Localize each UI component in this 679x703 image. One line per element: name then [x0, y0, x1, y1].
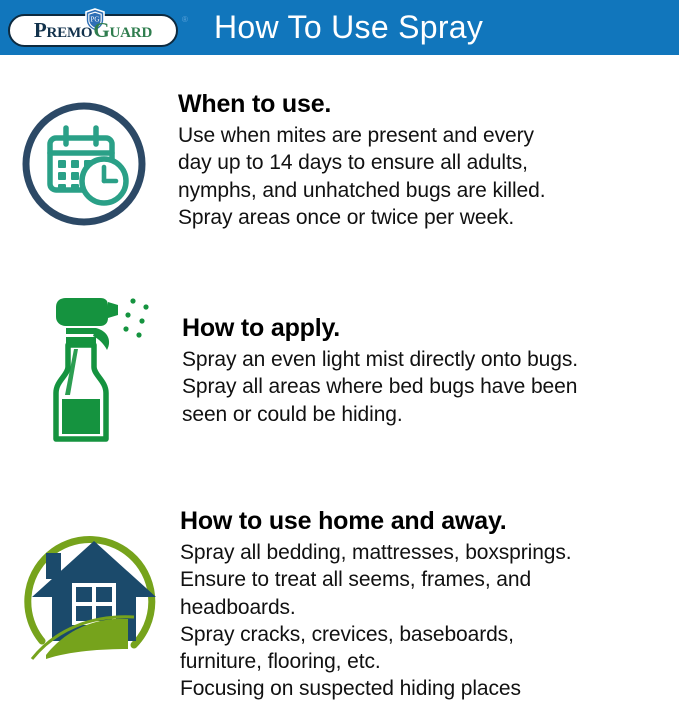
brand-logo: PG Premo Guard ®	[8, 8, 180, 48]
content-area: When to use. Use when mites are present …	[0, 55, 679, 665]
calendar-clock-icon	[18, 98, 150, 230]
page-header: PG Premo Guard ® How To Use Spray	[0, 0, 679, 55]
spray-bottle-icon	[38, 295, 158, 445]
section-home-line: Ensure to treat all seems, frames, and	[180, 566, 572, 593]
logo-wordmark: Premo Guard	[8, 14, 178, 47]
section-apply-line: Spray all areas where bed bugs have been	[182, 373, 578, 400]
logo-word-premo: Premo	[34, 20, 93, 41]
section-when-line: Spray areas once or twice per week.	[178, 204, 545, 231]
section-home-line: Spray all bedding, mattresses, boxspring…	[180, 539, 572, 566]
section-home-line: Spray cracks, crevices, baseboards,	[180, 621, 572, 648]
section-home-line: headboards.	[180, 594, 572, 621]
section-home-heading: How to use home and away.	[180, 507, 572, 535]
page-title: How To Use Spray	[214, 0, 483, 55]
section-apply-heading: How to apply.	[182, 314, 578, 342]
section-home-line: Focusing on suspected hiding places	[180, 675, 572, 702]
section-apply-line: Spray an even light mist directly onto b…	[182, 346, 578, 373]
section-when-line: nymphs, and unhatched bugs are killed.	[178, 177, 545, 204]
section-when-line: Use when mites are present and every	[178, 122, 545, 149]
section-apply-line: seen or could be hiding.	[182, 401, 578, 428]
registered-trademark-symbol: ®	[182, 15, 188, 24]
section-when-line: day up to 14 days to ensure all adults,	[178, 149, 545, 176]
section-when-text: When to use. Use when mites are present …	[178, 90, 545, 231]
house-icon	[16, 509, 172, 669]
section-apply-text: How to apply. Spray an even light mist d…	[182, 314, 578, 428]
section-when-heading: When to use.	[178, 90, 545, 118]
section-home-text: How to use home and away. Spray all bedd…	[180, 507, 572, 703]
section-home-line: furniture, flooring, etc.	[180, 648, 572, 675]
logo-word-guard: Guard	[93, 20, 152, 41]
